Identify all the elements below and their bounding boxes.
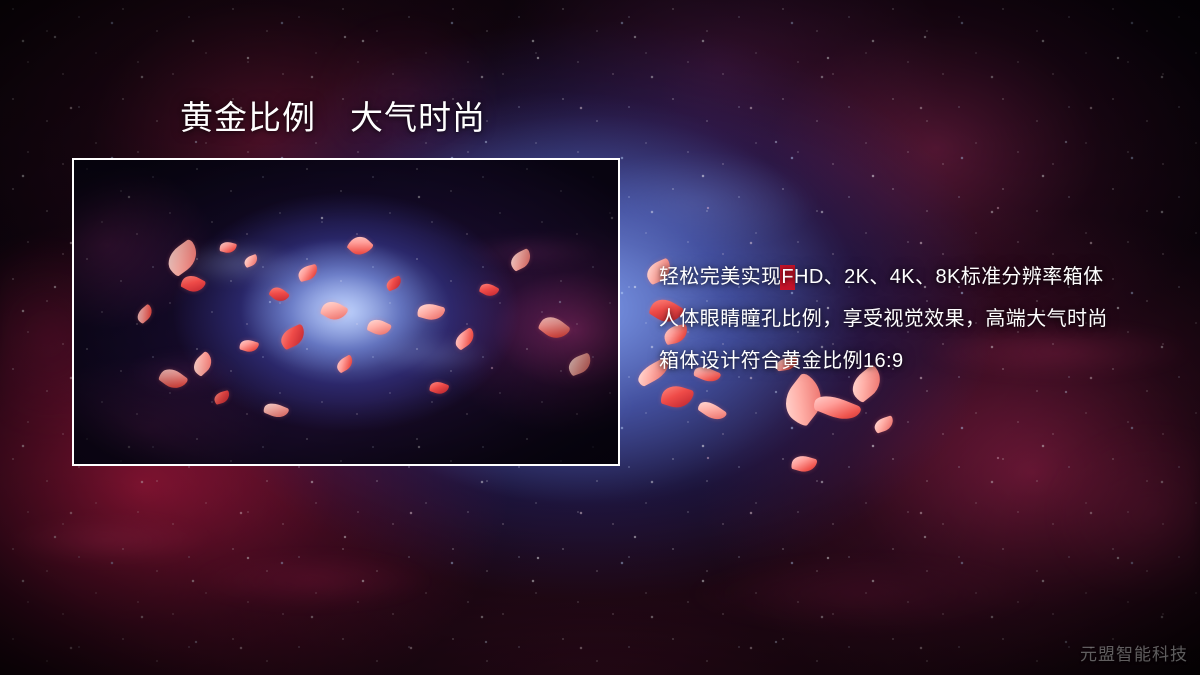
- body-line-2: 人体眼睛瞳孔比例，享受视觉效果，高端大气时尚: [659, 298, 1179, 340]
- watermark: 元盟智能科技: [1080, 640, 1188, 665]
- body-line-1: 轻松完美实现FHD、2K、4K、8K标准分辨率箱体: [659, 256, 1179, 298]
- panel-vignette: [74, 160, 618, 464]
- slide-body-text: 轻松完美实现FHD、2K、4K、8K标准分辨率箱体 人体眼睛瞳孔比例，享受视觉效…: [659, 256, 1179, 382]
- display-preview-panel[interactable]: [72, 158, 620, 466]
- presentation-slide: 黄金比例 大气时尚 轻松完美实现FHD、2K、4K、8K标准分辨率箱体 人体眼睛…: [0, 0, 1200, 675]
- slide-title: 黄金比例 大气时尚: [180, 100, 486, 137]
- body-line-3: 箱体设计符合黄金比例16:9: [659, 340, 1179, 382]
- body-line-1-after: HD、2K、4K、8K标准分辨率箱体: [794, 266, 1103, 288]
- body-line-1-before: 轻松完美实现: [659, 266, 781, 288]
- body-line-1-highlight: F: [781, 266, 794, 289]
